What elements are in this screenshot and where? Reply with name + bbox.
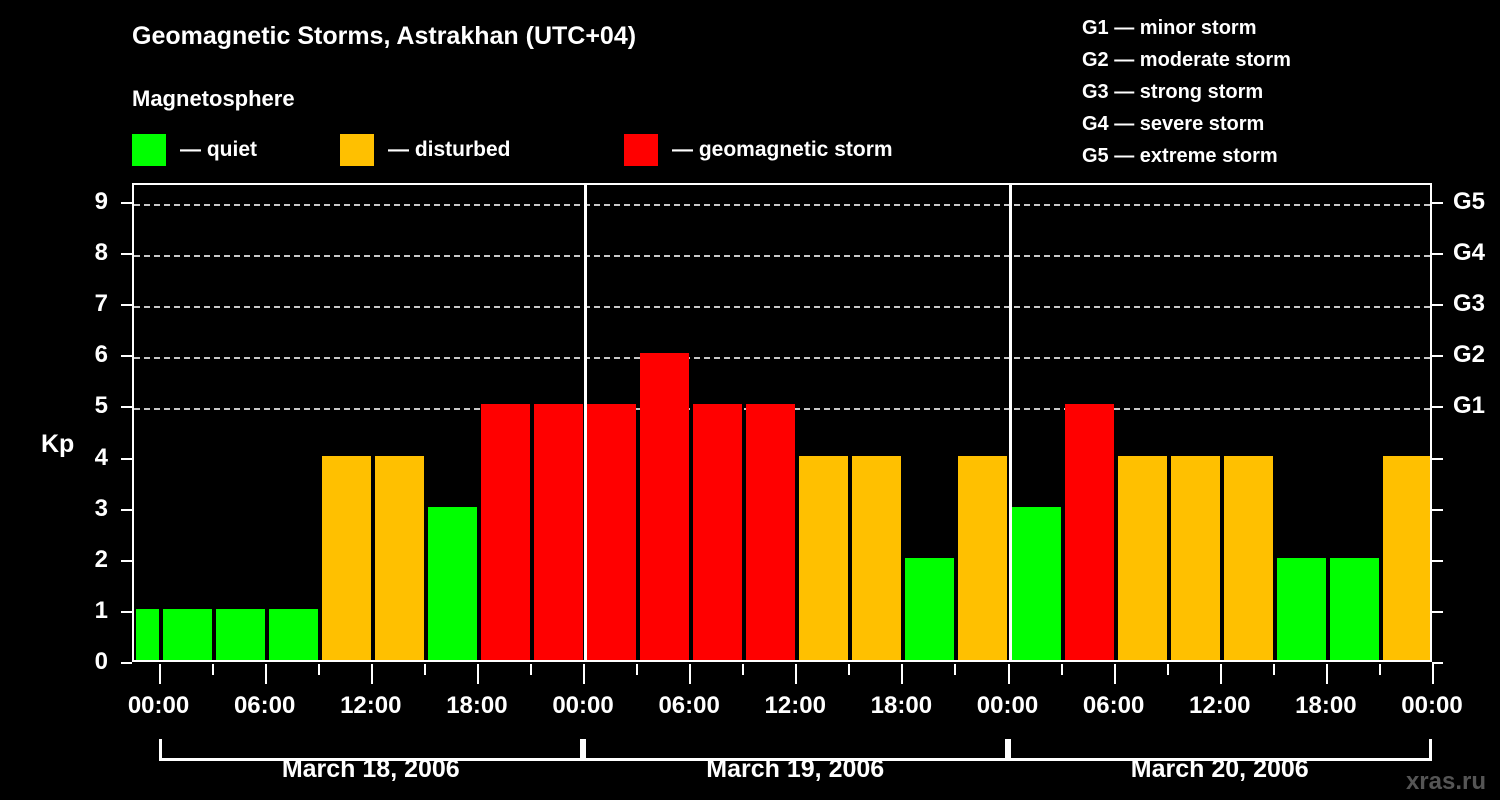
x-major-tick <box>159 664 161 684</box>
legend-label: — disturbed <box>388 138 511 162</box>
x-major-tick <box>1220 664 1222 684</box>
x-tick-label: 00:00 <box>977 692 1038 720</box>
x-tick-label: 06:00 <box>234 692 295 720</box>
x-tick-label: 00:00 <box>1401 692 1462 720</box>
y-tick-label: 6 <box>74 341 108 369</box>
x-major-tick <box>1008 664 1010 684</box>
bar <box>269 609 318 660</box>
x-minor-tick <box>318 664 320 675</box>
legend-item: — quiet <box>132 133 257 167</box>
g-axis-tick <box>1432 253 1443 255</box>
x-major-tick <box>371 664 373 684</box>
y-tick <box>121 304 132 306</box>
bar <box>1171 456 1220 660</box>
x-tick-label: 18:00 <box>446 692 507 720</box>
legend-label: — geomagnetic storm <box>672 138 893 162</box>
g-axis-tick <box>1432 202 1443 204</box>
x-major-tick <box>477 664 479 684</box>
bar <box>136 609 159 660</box>
x-minor-tick <box>1061 664 1063 675</box>
g-axis-tick <box>1432 509 1443 511</box>
magnetosphere-heading: Magnetosphere <box>132 86 295 112</box>
page-title: Geomagnetic Storms, Astrakhan (UTC+04) <box>132 22 636 51</box>
x-tick-label: 00:00 <box>128 692 189 720</box>
g-axis-tick <box>1432 355 1443 357</box>
x-minor-tick <box>636 664 638 675</box>
quiet-swatch <box>132 134 166 166</box>
x-tick-label: 06:00 <box>658 692 719 720</box>
disturbed-swatch <box>340 134 374 166</box>
chart-page: Geomagnetic Storms, Astrakhan (UTC+04) M… <box>0 0 1500 800</box>
x-major-tick <box>689 664 691 684</box>
storm-scale-line: G4 — severe storm <box>1074 108 1494 140</box>
bar <box>1012 507 1061 660</box>
x-major-tick <box>1432 664 1434 684</box>
x-minor-tick <box>742 664 744 675</box>
bar <box>1065 404 1114 660</box>
bar <box>799 456 848 660</box>
y-tick-label: 5 <box>74 392 108 420</box>
day-label: March 20, 2006 <box>1131 755 1309 784</box>
legend-label: — quiet <box>180 138 257 162</box>
storm-scale-line: G1 — minor storm <box>1074 12 1494 44</box>
g-axis-tick <box>1432 560 1443 562</box>
day-label: March 19, 2006 <box>706 755 884 784</box>
g-axis-label: G2 <box>1453 341 1485 369</box>
bar <box>746 404 795 660</box>
bar <box>852 456 901 660</box>
x-minor-tick <box>848 664 850 675</box>
x-tick-label: 18:00 <box>1295 692 1356 720</box>
bar <box>428 507 477 660</box>
g-axis-label: G4 <box>1453 239 1485 267</box>
bar <box>1118 456 1167 660</box>
y-tick-label: 4 <box>74 444 108 472</box>
storm-scale-line: G5 — extreme storm <box>1074 140 1494 172</box>
bar <box>322 456 371 660</box>
x-minor-tick <box>954 664 956 675</box>
x-tick-label: 12:00 <box>1189 692 1250 720</box>
x-minor-tick <box>1273 664 1275 675</box>
x-minor-tick <box>530 664 532 675</box>
x-minor-tick <box>424 664 426 675</box>
y-tick <box>121 611 132 613</box>
x-minor-tick <box>1167 664 1169 675</box>
y-tick-label: 1 <box>74 597 108 625</box>
y-tick-label: 3 <box>74 495 108 523</box>
watermark: xras.ru <box>1406 768 1486 796</box>
day-label: March 18, 2006 <box>282 755 460 784</box>
bar <box>375 456 424 660</box>
x-minor-tick <box>212 664 214 675</box>
bar <box>1330 558 1379 660</box>
g-axis-label: G1 <box>1453 392 1485 420</box>
x-tick-label: 12:00 <box>340 692 401 720</box>
storm-scale-legend: G1 — minor stormG2 — moderate stormG3 — … <box>1074 12 1494 172</box>
bar <box>587 404 636 660</box>
bar <box>905 558 954 660</box>
y-axis-title: Kp <box>41 430 74 459</box>
y-tick <box>121 406 132 408</box>
legend-item: — geomagnetic storm <box>624 133 893 167</box>
x-major-tick <box>583 664 585 684</box>
bar <box>481 404 530 660</box>
x-tick-label: 06:00 <box>1083 692 1144 720</box>
storm-scale-line: G3 — strong storm <box>1074 76 1494 108</box>
storm-scale-line: G2 — moderate storm <box>1074 44 1494 76</box>
x-major-tick <box>1114 664 1116 684</box>
g-axis-tick <box>1432 611 1443 613</box>
x-tick-label: 18:00 <box>871 692 932 720</box>
x-tick-label: 00:00 <box>552 692 613 720</box>
plot-area <box>132 183 1432 662</box>
y-tick-label: 7 <box>74 290 108 318</box>
bar-series <box>134 185 1430 660</box>
storm-swatch <box>624 134 658 166</box>
bar <box>1383 456 1432 660</box>
x-major-tick <box>1326 664 1328 684</box>
x-major-tick <box>901 664 903 684</box>
bar <box>216 609 265 660</box>
legend-item: — disturbed <box>340 133 511 167</box>
g-axis-tick <box>1432 406 1443 408</box>
bar <box>534 404 583 660</box>
bar <box>693 404 742 660</box>
x-major-tick <box>795 664 797 684</box>
y-tick <box>121 662 132 664</box>
day-separator <box>584 185 587 660</box>
y-tick <box>121 202 132 204</box>
bar <box>640 353 689 660</box>
y-tick-label: 0 <box>74 648 108 676</box>
y-tick <box>121 355 132 357</box>
g-axis-label: G5 <box>1453 188 1485 216</box>
day-separator <box>1009 185 1012 660</box>
g-axis-tick <box>1432 304 1443 306</box>
bar <box>958 456 1007 660</box>
bar <box>1224 456 1273 660</box>
y-tick <box>121 509 132 511</box>
y-tick <box>121 560 132 562</box>
bar <box>1277 558 1326 660</box>
y-tick-label: 8 <box>74 239 108 267</box>
x-major-tick <box>265 664 267 684</box>
x-tick-label: 12:00 <box>765 692 826 720</box>
y-tick-label: 2 <box>74 546 108 574</box>
y-tick-label: 9 <box>74 188 108 216</box>
y-tick <box>121 458 132 460</box>
y-tick <box>121 253 132 255</box>
g-axis-tick <box>1432 458 1443 460</box>
x-minor-tick <box>1379 664 1381 675</box>
bar <box>163 609 212 660</box>
g-axis-label: G3 <box>1453 290 1485 318</box>
